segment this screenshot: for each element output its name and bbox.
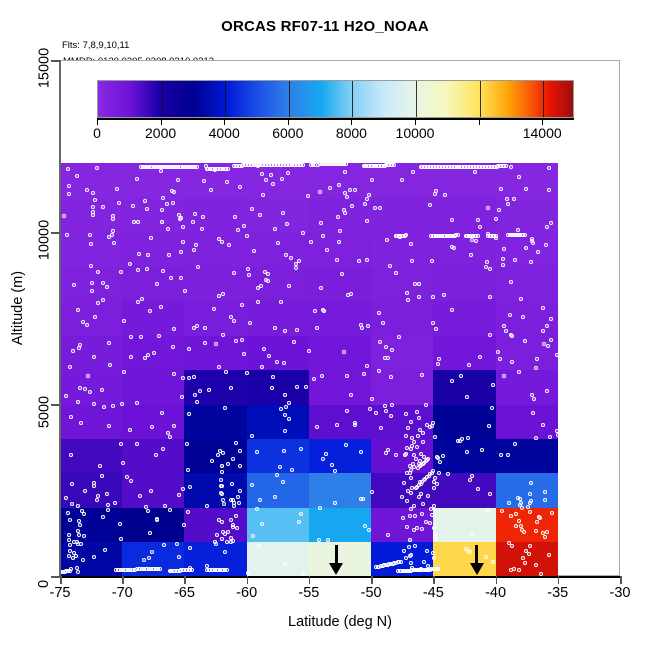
heatmap-cell — [60, 404, 123, 439]
x-axis-tick — [496, 576, 498, 584]
heatmap-cell — [433, 163, 496, 198]
x-axis-tick-label: -45 — [423, 585, 444, 601]
x-axis-tick — [371, 576, 373, 584]
heatmap-cell — [371, 232, 434, 267]
flights-annotation: Flts: 7,8,9,10,11 — [62, 40, 129, 51]
heatmap-cell — [371, 438, 434, 473]
colorbar-division-line — [225, 81, 226, 117]
colorbar-tick-label: 6000 — [272, 125, 303, 141]
colorbar-tick-label: 10000 — [396, 125, 435, 141]
heatmap-cell — [371, 301, 434, 336]
x-axis-tick — [184, 576, 186, 584]
heatmap-cell — [60, 163, 123, 198]
colorbar-division-line — [352, 81, 353, 117]
colorbar-division-line — [289, 81, 290, 117]
colorbar-division-line — [162, 81, 163, 117]
colorbar-tick — [288, 118, 289, 125]
heatmap-cell — [433, 301, 496, 336]
heatmap-cell — [247, 404, 310, 439]
y-axis-tick-label: 15000 — [36, 48, 52, 88]
heatmap-cell — [371, 163, 434, 198]
colorbar-tick-label: 0 — [93, 125, 101, 141]
heatmap-cell — [122, 335, 185, 370]
y-axis-tick — [51, 576, 60, 578]
heatmap-cell — [309, 198, 372, 233]
arrow-shaft — [475, 545, 478, 565]
colorbar-ticks — [97, 118, 574, 125]
x-axis-ticks — [60, 576, 620, 584]
heatmap-cell — [496, 507, 559, 542]
heatmap-cell — [122, 266, 185, 301]
y-axis-title: Altitude (m) — [10, 228, 26, 388]
heatmap-cell — [184, 370, 247, 405]
colorbar-tick-label: 8000 — [336, 125, 367, 141]
y-axis-tick — [51, 404, 60, 406]
heatmap-cell — [496, 404, 559, 439]
heatmap-cell — [309, 404, 372, 439]
heatmap-cell — [496, 301, 559, 336]
colorbar-division-line — [480, 81, 481, 117]
heatmap-cell — [309, 438, 372, 473]
heatmap-cell — [309, 473, 372, 508]
heatmap-cell — [433, 438, 496, 473]
heatmap-cell — [433, 198, 496, 233]
heatmap-cell — [184, 438, 247, 473]
x-axis-tick — [433, 576, 435, 584]
heatmap-cell — [122, 473, 185, 508]
x-axis-tick-label: -65 — [174, 585, 195, 601]
x-axis-tick-label: -50 — [361, 585, 382, 601]
heatmap-cell — [60, 198, 123, 233]
y-axis-tick-label: 5000 — [36, 396, 52, 428]
heatmap-cell — [371, 266, 434, 301]
heatmap-cell — [247, 542, 310, 577]
colorbar-tick — [224, 118, 225, 125]
x-axis-tick-labels: -75-70-65-60-55-50-45-40-35-30 — [60, 585, 620, 607]
heatmap-cell — [433, 335, 496, 370]
heatmap-cell — [309, 370, 372, 405]
x-axis-tick-label: -40 — [485, 585, 506, 601]
heatmap-cell — [496, 198, 559, 233]
heatmap-cell — [122, 404, 185, 439]
heatmap-cell — [309, 335, 372, 370]
heatmap-cell — [433, 232, 496, 267]
heatmap-cell — [309, 301, 372, 336]
heatmap-cell — [371, 370, 434, 405]
x-axis-tick — [309, 576, 311, 584]
x-axis-tick — [122, 576, 124, 584]
heatmap-cell — [122, 542, 185, 577]
arrow-head — [470, 563, 484, 575]
x-axis-tick-label: -75 — [50, 585, 71, 601]
colorbar-gradient — [97, 80, 574, 118]
heatmap-cell — [496, 370, 559, 405]
heatmap-cell — [247, 301, 310, 336]
heatmap-cell — [60, 507, 123, 542]
heatmap-cell — [496, 473, 559, 508]
heatmap-cell — [122, 507, 185, 542]
heatmap-cell — [184, 542, 247, 577]
heatmap-cell — [60, 301, 123, 336]
heatmap-cell — [122, 163, 185, 198]
heatmap-cell — [184, 473, 247, 508]
x-axis-tick-label: -60 — [236, 585, 257, 601]
heatmap-cell — [247, 198, 310, 233]
heatmap-cells — [60, 172, 560, 576]
heatmap-cell — [184, 163, 247, 198]
heatmap-cell — [309, 232, 372, 267]
colorbar-tick — [479, 118, 480, 125]
heatmap-cell — [60, 542, 123, 577]
x-axis-tick — [558, 576, 560, 584]
heatmap-cell — [433, 542, 496, 577]
heatmap-cell — [496, 438, 559, 473]
arrow-shaft — [335, 545, 338, 565]
x-axis-tick — [60, 576, 62, 584]
x-axis-title: Latitude (deg N) — [60, 614, 620, 630]
y-axis-tick-label: 0 — [36, 580, 52, 588]
y-axis-ticks — [51, 60, 60, 577]
page-title: ORCAS RF07-11 H2O_NOAA — [0, 18, 650, 35]
heatmap-cell — [247, 370, 310, 405]
heatmap-cell — [247, 266, 310, 301]
heatmap-cell — [496, 266, 559, 301]
heatmap-cell — [247, 163, 310, 198]
heatmap-cell — [122, 232, 185, 267]
heatmap-cell — [122, 198, 185, 233]
colorbar-tick — [351, 118, 352, 125]
x-axis-tick-label: -70 — [112, 585, 133, 601]
colorbar-tick — [415, 118, 416, 125]
heatmap-cell — [184, 266, 247, 301]
y-axis-tick — [51, 60, 60, 62]
heatmap-cell — [60, 266, 123, 301]
heatmap-cell — [247, 473, 310, 508]
arrow-head — [329, 563, 343, 575]
heatmap-cell — [309, 507, 372, 542]
heatmap-cell — [371, 507, 434, 542]
heatmap-cell — [247, 232, 310, 267]
colorbar-tick — [542, 118, 543, 125]
colorbar-tick-label: 4000 — [209, 125, 240, 141]
colorbar-division-line — [416, 81, 417, 117]
heatmap-plot-area — [60, 172, 560, 576]
colorbar-tick-label: 14000 — [523, 125, 562, 141]
heatmap-cell — [371, 335, 434, 370]
heatmap-cell — [247, 438, 310, 473]
heatmap-cell — [496, 163, 559, 198]
heatmap-cell — [60, 232, 123, 267]
heatmap-cell — [309, 266, 372, 301]
heatmap-cell — [60, 335, 123, 370]
x-axis-tick — [620, 576, 622, 584]
heatmap-cell — [496, 335, 559, 370]
colorbar-division-lines — [98, 81, 573, 117]
heatmap-cell — [184, 404, 247, 439]
heatmap-cell — [433, 404, 496, 439]
arrow-marker-2 — [470, 545, 484, 575]
colorbar-division-line — [543, 81, 544, 117]
heatmap-cell — [371, 198, 434, 233]
heatmap-cell — [122, 301, 185, 336]
heatmap-cell — [60, 370, 123, 405]
heatmap-cell — [247, 507, 310, 542]
heatmap-cell — [122, 438, 185, 473]
colorbar-tick — [97, 118, 98, 125]
heatmap-cell — [309, 163, 372, 198]
colorbar-tick-labels: 020004000600080001000014000 — [97, 125, 574, 145]
x-axis-tick-label: -30 — [610, 585, 631, 601]
x-axis-tick — [247, 576, 249, 584]
arrow-marker-1 — [329, 545, 343, 575]
heatmap-cell — [184, 507, 247, 542]
colorbar-tick-label: 2000 — [145, 125, 176, 141]
colorbar-tick — [161, 118, 162, 125]
colorbar: 020004000600080001000014000 — [97, 80, 574, 118]
plot-root: ORCAS RF07-11 H2O_NOAA Flts: 7,8,9,10,11… — [0, 0, 650, 650]
heatmap-cell — [184, 301, 247, 336]
heatmap-cell — [371, 542, 434, 577]
heatmap-cell — [433, 507, 496, 542]
x-axis-tick-label: -35 — [547, 585, 568, 601]
heatmap-cell — [433, 266, 496, 301]
heatmap-cell — [371, 473, 434, 508]
x-axis-tick-label: -55 — [298, 585, 319, 601]
heatmap-cell — [184, 198, 247, 233]
heatmap-cell — [60, 438, 123, 473]
heatmap-cell — [496, 232, 559, 267]
heatmap-cell — [371, 404, 434, 439]
heatmap-cell — [184, 335, 247, 370]
heatmap-cell — [122, 370, 185, 405]
heatmap-cell — [433, 473, 496, 508]
y-axis-tick-label: 10000 — [36, 220, 52, 260]
y-axis-tick — [51, 232, 60, 234]
heatmap-cell — [60, 473, 123, 508]
heatmap-cell — [184, 232, 247, 267]
heatmap-cell — [496, 542, 559, 577]
heatmap-cell — [433, 370, 496, 405]
heatmap-cell — [247, 335, 310, 370]
